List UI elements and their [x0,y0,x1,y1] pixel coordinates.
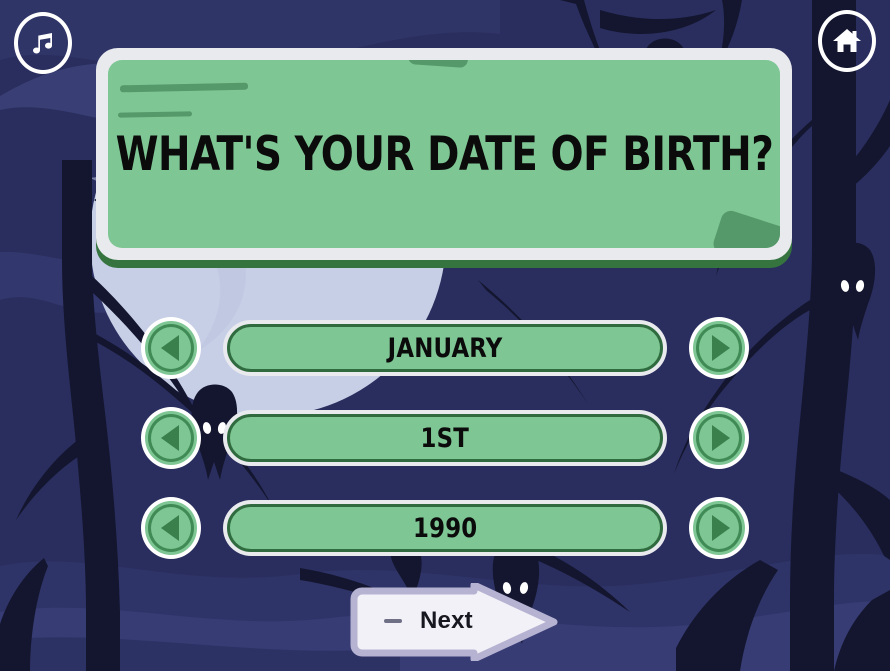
chevron-right-icon [712,425,730,451]
selector-row-year: 1990 [0,483,890,573]
chevron-left-icon [161,425,179,451]
music-note-icon [30,29,56,57]
month-value-pill-inner: JANUARY [227,324,663,372]
date-of-birth-selectors: JANUARY 1ST [0,303,890,573]
month-value: JANUARY [388,333,503,364]
chevron-right-icon [712,515,730,541]
month-value-pill[interactable]: JANUARY [223,320,667,376]
day-value-pill-inner: 1ST [227,414,663,462]
music-toggle-button[interactable] [14,12,72,74]
day-value: 1ST [421,423,469,454]
paint-streak-icon [711,208,780,248]
year-value-pill[interactable]: 1990 [223,500,667,556]
paint-streak-icon [407,60,468,68]
month-prev-button[interactable] [141,317,201,379]
chevron-left-icon [161,515,179,541]
selector-row-month: JANUARY [0,303,890,393]
paint-streak-icon [120,83,248,93]
question-banner-inner: WHAT'S YOUR DATE OF BIRTH? [108,60,780,248]
home-button[interactable] [818,10,876,72]
question-text: WHAT'S YOUR DATE OF BIRTH? [115,131,773,178]
day-prev-button[interactable] [141,407,201,469]
year-next-button[interactable] [689,497,749,559]
home-icon [832,27,862,55]
quiz-screen: WHAT'S YOUR DATE OF BIRTH? JANUARY [0,0,890,671]
day-value-pill[interactable]: 1ST [223,410,667,466]
paint-streak-icon [118,111,192,117]
month-next-button[interactable] [689,317,749,379]
year-prev-button[interactable] [141,497,201,559]
arrow-right-icon [344,583,562,661]
next-button[interactable]: Next [344,583,562,661]
question-banner: WHAT'S YOUR DATE OF BIRTH? [96,48,792,260]
selector-row-day: 1ST [0,393,890,483]
chevron-right-icon [712,335,730,361]
year-value-pill-inner: 1990 [227,504,663,552]
year-value: 1990 [413,513,477,544]
chevron-left-icon [161,335,179,361]
day-next-button[interactable] [689,407,749,469]
